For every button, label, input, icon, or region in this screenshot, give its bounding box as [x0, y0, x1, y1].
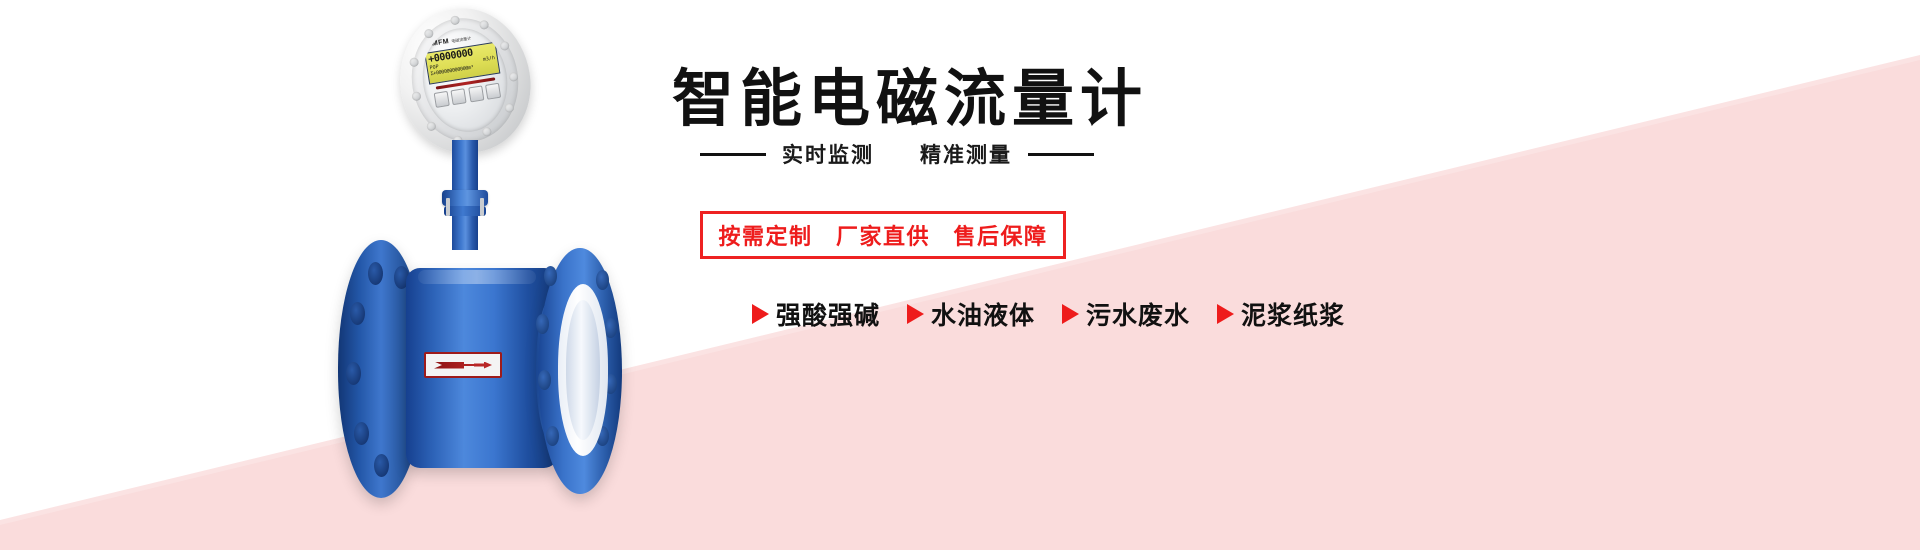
application-item-3: 污水废水 [1062, 296, 1190, 332]
flange-right [538, 248, 622, 494]
flange-bolt-hole [546, 426, 559, 446]
subtitle-row: 实时监测 精准测量 [700, 139, 1094, 169]
application-label: 强酸强碱 [776, 296, 880, 332]
promo-banner: EMFM 电磁流量计 +0000000 POP m3/h Σ+000000000… [0, 0, 1920, 550]
triangle-right-icon [1062, 304, 1079, 324]
flange-bolt-hole [346, 362, 361, 385]
flange-bolt-hole [536, 314, 549, 334]
application-label: 污水废水 [1086, 296, 1190, 332]
flange-liner-inner [566, 300, 600, 440]
application-label: 水油液体 [931, 296, 1035, 332]
neck-bolt-right [480, 198, 484, 216]
subtitle-item-1: 实时监测 [782, 139, 874, 169]
triangle-right-icon [1217, 304, 1234, 324]
flange-bolt-hole [596, 270, 609, 290]
device-brand-subtext: 电磁流量计 [451, 36, 472, 44]
neck-bolt-left [446, 198, 450, 216]
product-illustration: EMFM 电磁流量计 +0000000 POP m3/h Σ+000000000… [300, 0, 720, 550]
application-list: 强酸强碱 水油液体 污水废水 泥浆纸浆 [752, 296, 1345, 332]
subtitle-item-2: 精准测量 [920, 139, 1012, 169]
flange-bolt-hole [538, 370, 551, 390]
guarantee-callout-text: 按需定制 厂家直供 售后保障 [718, 219, 1047, 251]
flange-bolt-hole [350, 302, 365, 325]
keypad-key-4[interactable] [485, 83, 501, 100]
body-highlight [418, 270, 536, 284]
page-title: 智能电磁流量计 [672, 48, 1148, 138]
application-item-4: 泥浆纸浆 [1217, 296, 1345, 332]
triangle-right-icon [907, 304, 924, 324]
flange-bolt-hole [368, 262, 383, 285]
application-label: 泥浆纸浆 [1241, 296, 1345, 332]
application-item-2: 水油液体 [907, 296, 1035, 332]
flow-direction-plate [424, 352, 502, 378]
flange-bolt-hole [354, 422, 369, 445]
flange-bolt-hole [544, 266, 557, 286]
keypad-key-1[interactable] [434, 91, 450, 108]
application-item-1: 强酸强碱 [752, 296, 880, 332]
flow-direction-arrow-icon [434, 362, 492, 369]
keypad-key-3[interactable] [468, 85, 484, 102]
guarantee-callout-box: 按需定制 厂家直供 售后保障 [700, 211, 1066, 259]
rule-left-icon [700, 153, 766, 156]
flange-bolt-hole [374, 454, 389, 477]
keypad-key-2[interactable] [451, 88, 467, 105]
triangle-right-icon [752, 304, 769, 324]
rule-right-icon [1028, 153, 1094, 156]
